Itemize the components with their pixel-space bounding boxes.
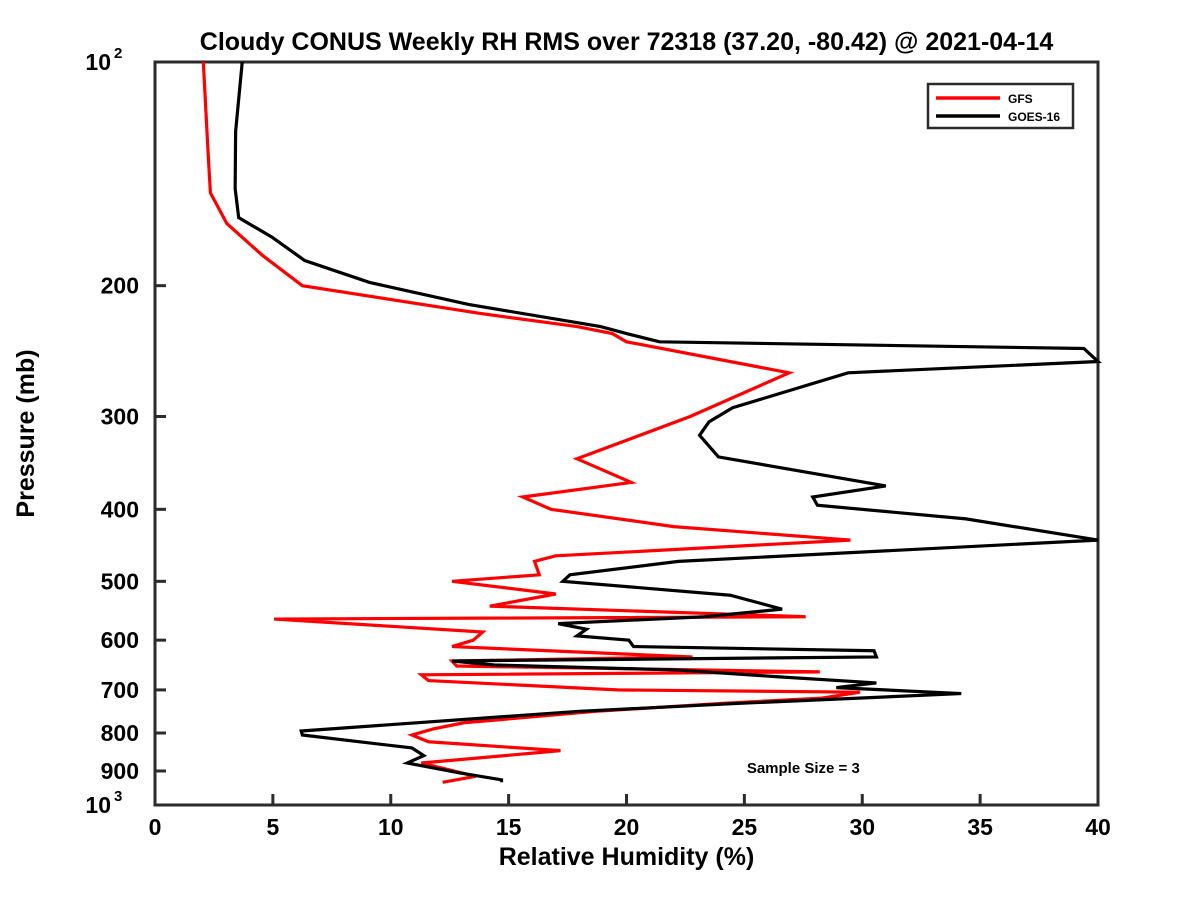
- svg-text:400: 400: [101, 496, 139, 522]
- legend-label-gfs: GFS: [1008, 92, 1033, 106]
- y-axis-tick-label: 900: [101, 758, 139, 784]
- x-axis-label: Relative Humidity (%): [499, 843, 755, 871]
- chart-canvas: Cloudy CONUS Weekly RH RMS over 72318 (3…: [0, 0, 1200, 900]
- y-axis-tick-label: 300: [101, 404, 139, 430]
- y-axis-tick-label: 600: [101, 627, 139, 653]
- svg-text:600: 600: [101, 627, 139, 653]
- svg-text:10: 10: [85, 792, 111, 818]
- y-axis-tick-label: 800: [101, 720, 139, 746]
- y-axis-tick-label: 700: [101, 677, 139, 703]
- chart-title: Cloudy CONUS Weekly RH RMS over 72318 (3…: [200, 28, 1054, 56]
- y-axis-tick-label: 500: [101, 568, 139, 594]
- rh-rms-profile-chart: Cloudy CONUS Weekly RH RMS over 72318 (3…: [0, 0, 1200, 900]
- svg-text:10: 10: [85, 49, 111, 75]
- sample-size-annotation: Sample Size = 3: [747, 760, 860, 777]
- x-axis-tick-label: 0: [149, 814, 162, 840]
- x-axis-tick-label: 35: [967, 814, 993, 840]
- x-axis-tick-label: 5: [266, 814, 279, 840]
- svg-text:300: 300: [101, 404, 139, 430]
- svg-text:3: 3: [114, 788, 122, 805]
- svg-text:700: 700: [101, 677, 139, 703]
- y-axis-tick-label: 200: [101, 273, 139, 299]
- legend-label-goes-16: GOES-16: [1008, 110, 1060, 124]
- svg-text:2: 2: [114, 45, 122, 62]
- x-axis-tick-label: 40: [1085, 814, 1111, 840]
- y-axis-tick-label: 103: [85, 788, 122, 818]
- x-axis-tick-label: 15: [496, 814, 522, 840]
- x-axis-tick-label: 25: [732, 814, 758, 840]
- y-axis-label: Pressure (mb): [12, 349, 40, 517]
- svg-text:500: 500: [101, 568, 139, 594]
- y-axis-tick-label: 102: [85, 45, 122, 75]
- x-axis-tick-label: 10: [378, 814, 404, 840]
- svg-text:900: 900: [101, 758, 139, 784]
- svg-text:200: 200: [101, 273, 139, 299]
- y-axis-tick-label: 400: [101, 496, 139, 522]
- x-axis-tick-label: 30: [849, 814, 875, 840]
- svg-text:800: 800: [101, 720, 139, 746]
- x-axis-tick-label: 20: [614, 814, 640, 840]
